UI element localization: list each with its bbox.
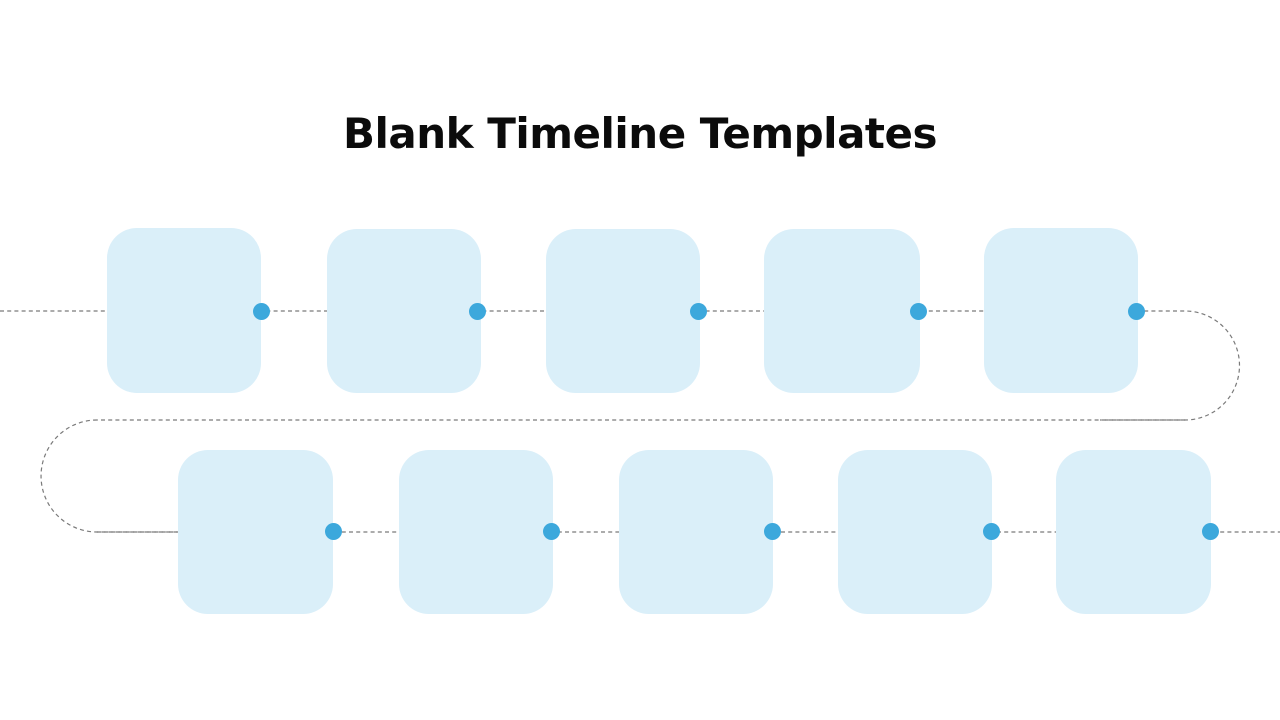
milestone-box-7-dot[interactable] [543, 523, 560, 540]
milestone-box-9[interactable] [838, 450, 992, 614]
milestone-box-5-dot[interactable] [1128, 303, 1145, 320]
milestone-box-5[interactable] [984, 228, 1138, 393]
milestone-box-3[interactable] [546, 229, 700, 393]
timeline-slide: Blank Timeline Templates [0, 0, 1280, 720]
milestone-box-8[interactable] [619, 450, 773, 614]
milestone-box-9-dot[interactable] [983, 523, 1000, 540]
milestone-box-4[interactable] [764, 229, 920, 393]
page-title: Blank Timeline Templates [0, 106, 1280, 162]
milestone-box-3-dot[interactable] [690, 303, 707, 320]
milestone-box-2-dot[interactable] [469, 303, 486, 320]
milestone-box-8-dot[interactable] [764, 523, 781, 540]
milestone-box-2[interactable] [327, 229, 481, 393]
milestone-box-7[interactable] [399, 450, 553, 614]
milestone-box-1-dot[interactable] [253, 303, 270, 320]
milestone-box-10-dot[interactable] [1202, 523, 1219, 540]
milestone-box-4-dot[interactable] [910, 303, 927, 320]
milestone-box-1[interactable] [107, 228, 261, 393]
milestone-box-10[interactable] [1056, 450, 1211, 614]
milestone-box-6[interactable] [178, 450, 333, 614]
connector-left-uturn [41, 420, 180, 532]
milestone-box-6-dot[interactable] [325, 523, 342, 540]
